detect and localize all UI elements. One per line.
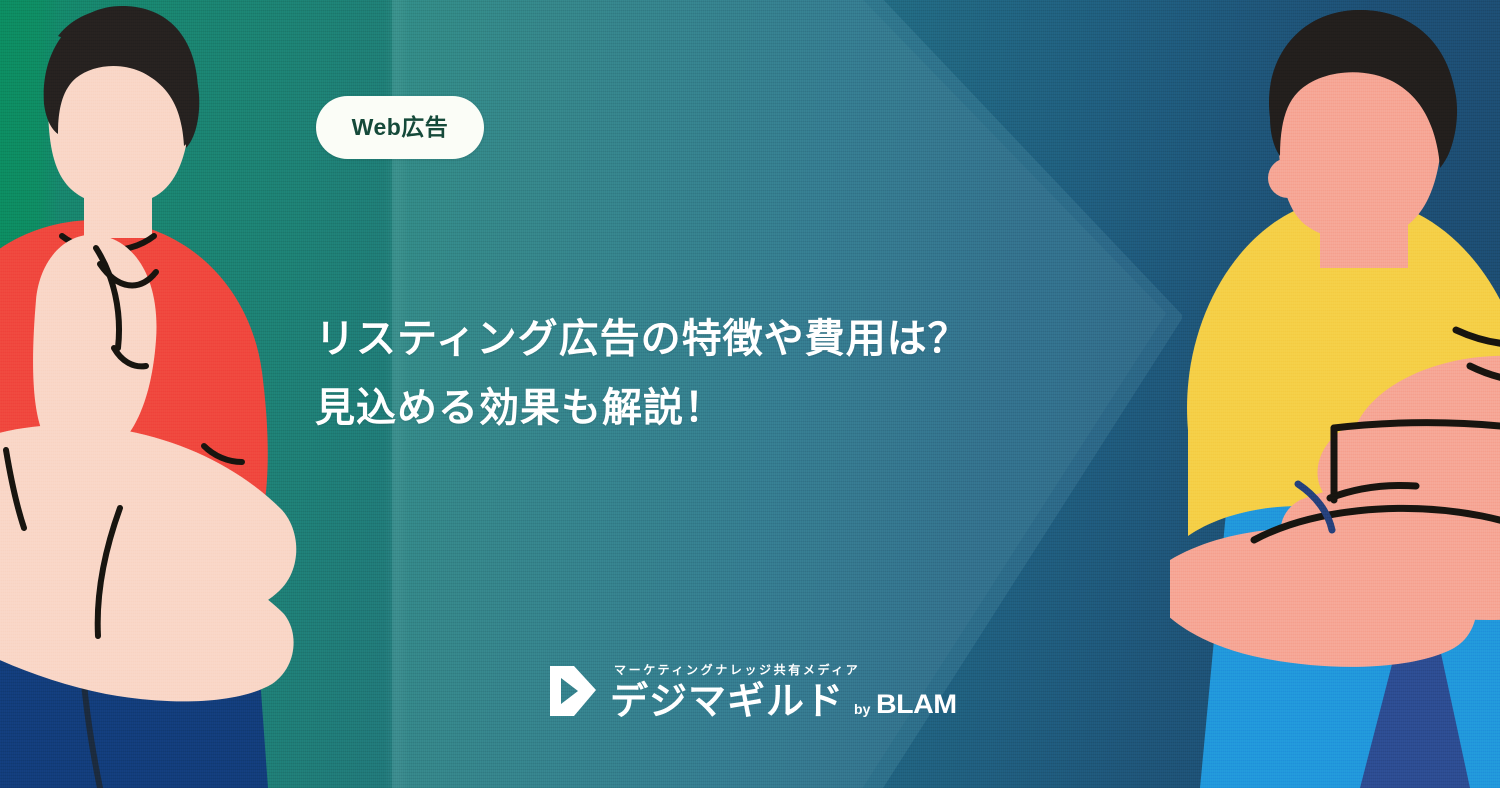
illustration-person-right — [1170, 0, 1500, 788]
category-badge-label: Web広告 — [352, 116, 449, 139]
logo-by-label: by — [854, 702, 870, 716]
logo-tagline: マーケティングナレッジ共有メディア — [614, 664, 952, 676]
logo-brand: BLAM — [876, 691, 957, 718]
page-title-line-1: リスティング広告の特徴や費用は？ — [315, 305, 1135, 374]
page-title: リスティング広告の特徴や費用は？ 見込める効果も解説！ — [315, 305, 1135, 443]
site-logo[interactable]: マーケティングナレッジ共有メディア デジマギルド by BLAM — [548, 648, 952, 720]
category-badge[interactable]: Web広告 — [316, 96, 484, 159]
logo-name: デジマギルド — [610, 682, 844, 720]
page-title-line-2: 見込める効果も解説！ — [315, 374, 1135, 443]
banner-image: Web広告 リスティング広告の特徴や費用は？ 見込める効果も解説！ マーケティン… — [0, 0, 1500, 788]
illustration-person-left — [0, 0, 300, 788]
play-triangle-d-icon — [548, 664, 598, 718]
